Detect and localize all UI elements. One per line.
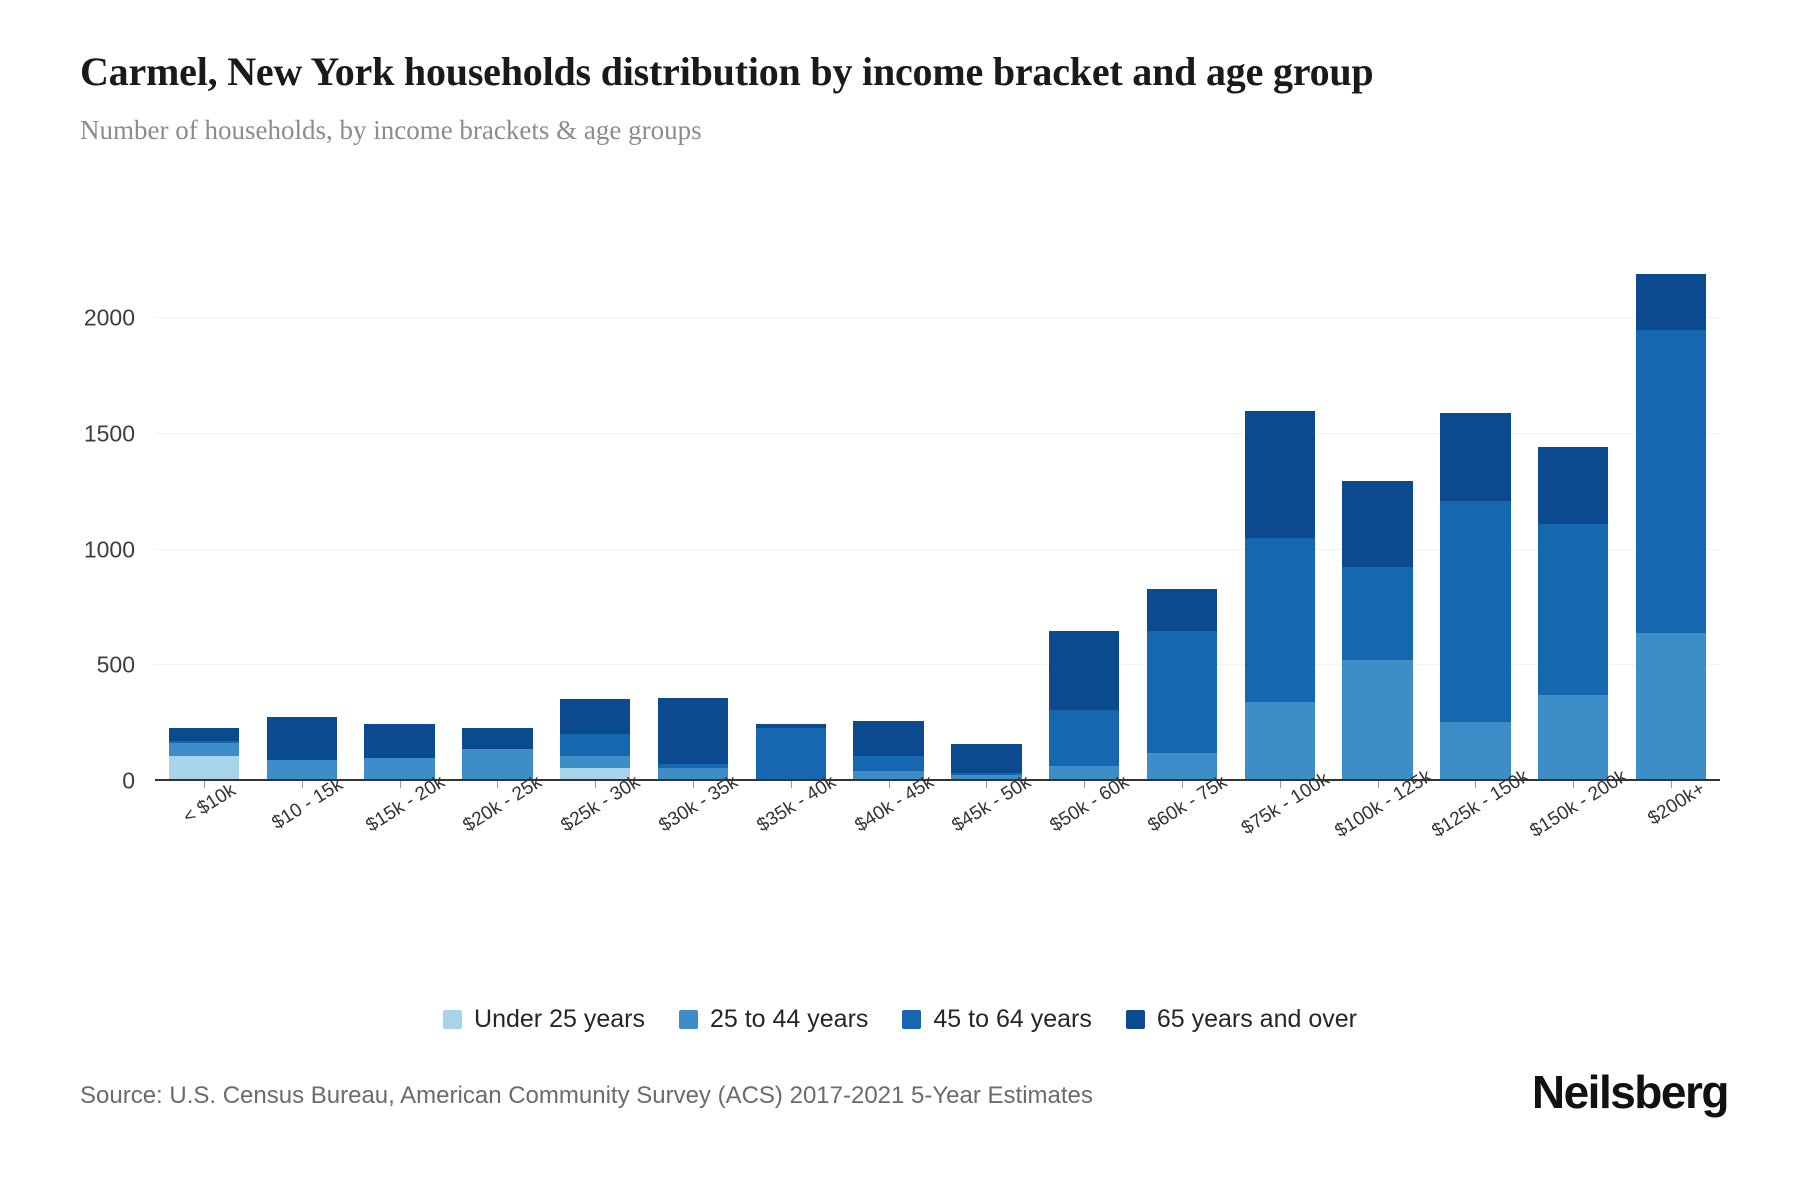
x-axis-labels: < $10k$10 - 15k$15k - 20k$20k - 25k$25k … [155, 783, 1720, 893]
bar-segment[interactable] [853, 756, 923, 771]
x-label-cell: $125k - 150k [1427, 783, 1525, 893]
x-label-cell: $35k - 40k [742, 783, 840, 893]
bar-segment[interactable] [1147, 753, 1217, 781]
y-tick-label: 2000 [15, 305, 135, 332]
legend-item-label: Under 25 years [474, 1005, 645, 1034]
x-label-cell: $15k - 20k [351, 783, 449, 893]
legend-item-label: 45 to 64 years [933, 1005, 1091, 1034]
x-axis-line [155, 779, 1720, 781]
x-label-cell: $25k - 30k [546, 783, 644, 893]
stacked-bar[interactable] [169, 728, 239, 781]
legend-swatch-65-plus [1126, 1010, 1145, 1029]
bar-segment[interactable] [658, 698, 728, 764]
legend-item[interactable]: 25 to 44 years [679, 1005, 868, 1034]
bar-group[interactable] [1035, 265, 1133, 781]
bar-group[interactable] [1133, 265, 1231, 781]
stacked-bar[interactable] [658, 698, 728, 781]
legend-item[interactable]: Under 25 years [443, 1005, 645, 1034]
bar-group[interactable] [1231, 265, 1329, 781]
stacked-bar[interactable] [756, 724, 826, 781]
x-label-cell: $45k - 50k [938, 783, 1036, 893]
bar-segment[interactable] [1636, 633, 1706, 781]
bar-segment[interactable] [364, 724, 434, 758]
stacked-bar[interactable] [267, 717, 337, 781]
stacked-bar[interactable] [853, 721, 923, 781]
bar-segment[interactable] [560, 699, 630, 734]
bar-group[interactable] [546, 265, 644, 781]
stacked-bar[interactable] [1245, 411, 1315, 781]
x-label-cell: $60k - 75k [1133, 783, 1231, 893]
x-label-cell: $200k+ [1622, 783, 1720, 893]
bar-group[interactable] [253, 265, 351, 781]
legend-item-label: 25 to 44 years [710, 1005, 868, 1034]
bar-group[interactable] [351, 265, 449, 781]
stacked-bar[interactable] [1342, 481, 1412, 781]
legend-swatch-25-44 [679, 1010, 698, 1029]
bar-segment[interactable] [364, 758, 434, 781]
stacked-bar[interactable] [1636, 274, 1706, 781]
bar-group[interactable] [938, 265, 1036, 781]
bar-segment[interactable] [1538, 447, 1608, 525]
bar-segment[interactable] [1440, 413, 1510, 501]
chart-legend: Under 25 years25 to 44 years45 to 64 yea… [0, 1005, 1800, 1034]
bar-group[interactable] [1427, 265, 1525, 781]
legend-item[interactable]: 45 to 64 years [902, 1005, 1091, 1034]
bar-segment[interactable] [1636, 330, 1706, 633]
bar-segment[interactable] [462, 728, 532, 749]
legend-item-label: 65 years and over [1157, 1005, 1357, 1034]
x-label-cell: $20k - 25k [448, 783, 546, 893]
x-axis-label: $200k+ [1644, 778, 1709, 830]
legend-swatch-under-25 [443, 1010, 462, 1029]
x-axis-label: < $10k [179, 780, 239, 829]
x-label-cell: $150k - 200k [1524, 783, 1622, 893]
bar-segment[interactable] [1342, 481, 1412, 567]
bar-segment[interactable] [560, 734, 630, 756]
x-label-cell: $10 - 15k [253, 783, 351, 893]
source-note: Source: U.S. Census Bureau, American Com… [80, 1082, 1093, 1110]
bar-segment[interactable] [462, 749, 532, 781]
legend-swatch-45-64 [902, 1010, 921, 1029]
bar-segment[interactable] [756, 728, 826, 781]
bar-segment[interactable] [1147, 589, 1217, 631]
stacked-bar[interactable] [1538, 447, 1608, 781]
bar-group[interactable] [840, 265, 938, 781]
stacked-bar[interactable] [1440, 413, 1510, 781]
stacked-bar[interactable] [1147, 589, 1217, 781]
bar-group[interactable] [448, 265, 546, 781]
y-tick-label: 0 [15, 768, 135, 795]
chart-container: Carmel, New York households distribution… [0, 0, 1800, 1200]
x-label-cell: < $10k [155, 783, 253, 893]
bar-segment[interactable] [1245, 411, 1315, 538]
bar-segment[interactable] [267, 717, 337, 760]
stacked-bar[interactable] [560, 699, 630, 781]
stacked-bar[interactable] [951, 744, 1021, 781]
bar-series-group [155, 265, 1720, 781]
bar-segment[interactable] [1245, 538, 1315, 702]
bar-segment[interactable] [951, 744, 1021, 773]
bar-segment[interactable] [1538, 695, 1608, 781]
bar-segment[interactable] [169, 728, 239, 741]
bar-segment[interactable] [1147, 631, 1217, 754]
bar-segment[interactable] [1636, 274, 1706, 330]
bar-segment[interactable] [1440, 722, 1510, 781]
x-label-cell: $75k - 100k [1231, 783, 1329, 893]
x-label-cell: $40k - 45k [840, 783, 938, 893]
bar-group[interactable] [644, 265, 742, 781]
bar-segment[interactable] [1049, 631, 1119, 711]
bar-segment[interactable] [1440, 501, 1510, 722]
legend-item[interactable]: 65 years and over [1126, 1005, 1357, 1034]
bar-group[interactable] [1622, 265, 1720, 781]
x-axis-label: $10 - 15k [268, 774, 347, 835]
x-label-cell: $50k - 60k [1035, 783, 1133, 893]
bar-segment[interactable] [853, 721, 923, 756]
bar-segment[interactable] [169, 743, 239, 756]
stacked-bar[interactable] [364, 724, 434, 781]
x-label-cell: $30k - 35k [644, 783, 742, 893]
bar-segment[interactable] [169, 756, 239, 781]
plot-area: 0500100015002000 [155, 265, 1720, 781]
bar-segment[interactable] [1245, 702, 1315, 781]
bar-segment[interactable] [1538, 524, 1608, 695]
bar-segment[interactable] [267, 760, 337, 781]
brand-logo: Neilsberg [1532, 1065, 1728, 1119]
bar-group[interactable] [1329, 265, 1427, 781]
y-tick-label: 1000 [15, 536, 135, 563]
bar-group[interactable] [1524, 265, 1622, 781]
bar-group[interactable] [155, 265, 253, 781]
bar-segment[interactable] [1342, 567, 1412, 660]
bar-segment[interactable] [1342, 660, 1412, 781]
y-tick-label: 1500 [15, 420, 135, 447]
stacked-bar[interactable] [1049, 631, 1119, 781]
bar-segment[interactable] [560, 756, 630, 769]
y-tick-label: 500 [15, 652, 135, 679]
bar-segment[interactable] [1049, 710, 1119, 766]
bar-group[interactable] [742, 265, 840, 781]
x-label-cell: $100k - 125k [1329, 783, 1427, 893]
stacked-bar[interactable] [462, 728, 532, 781]
